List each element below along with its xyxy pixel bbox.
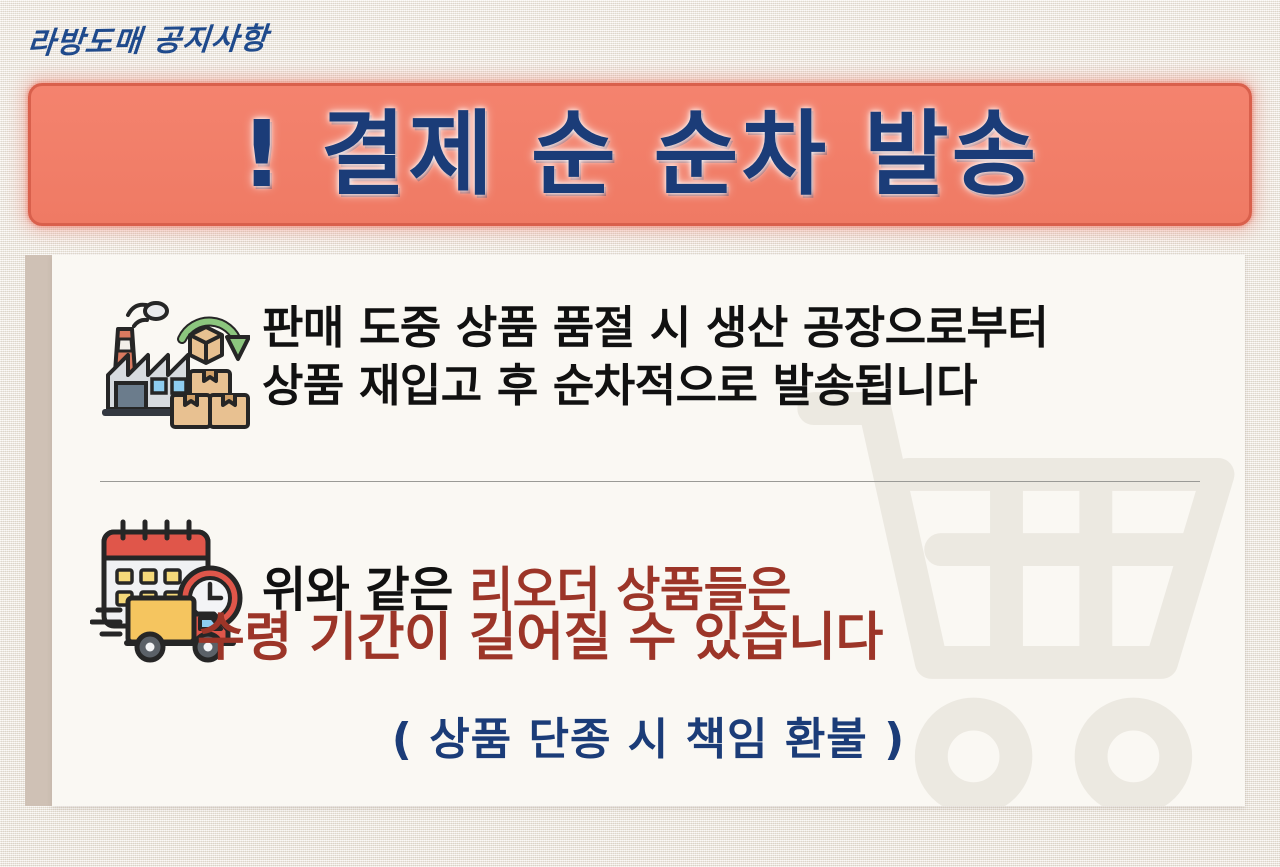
headline-banner: ! 결제 순 순차 발송 <box>28 83 1252 226</box>
restock-line-1: 판매 도중 상품 품절 시 생산 공장으로부터 <box>262 299 1048 358</box>
restock-text-block: 판매 도중 상품 품절 시 생산 공장으로부터 상품 재입고 후 순차적으로 발… <box>262 299 1048 416</box>
content-card: 판매 도중 상품 품절 시 생산 공장으로부터 상품 재입고 후 순차적으로 발… <box>52 255 1245 806</box>
section-divider <box>100 481 1200 482</box>
reorder-line-2-accent: 수령 기간이 길어질 수 있습니다 <box>197 595 883 670</box>
factory-restock-icon <box>90 277 250 437</box>
headline-text: ! 결제 순 순차 발송 <box>241 109 1040 201</box>
section-row-restock: 판매 도중 상품 품절 시 생산 공장으로부터 상품 재입고 후 순차적으로 발… <box>90 277 1048 437</box>
content-card-wrapper: 판매 도중 상품 품절 시 생산 공장으로부터 상품 재입고 후 순차적으로 발… <box>25 255 1245 806</box>
refund-footnote: ( 상품 단종 시 책임 환불 ) <box>52 703 1245 767</box>
restock-line-2: 상품 재입고 후 순차적으로 발송됩니다 <box>262 357 1048 416</box>
brand-kicker: 라방도매 공지사항 <box>26 13 270 62</box>
poster-canvas: 라방도매 공지사항 ! 결제 순 순차 발송 <box>0 0 1280 867</box>
